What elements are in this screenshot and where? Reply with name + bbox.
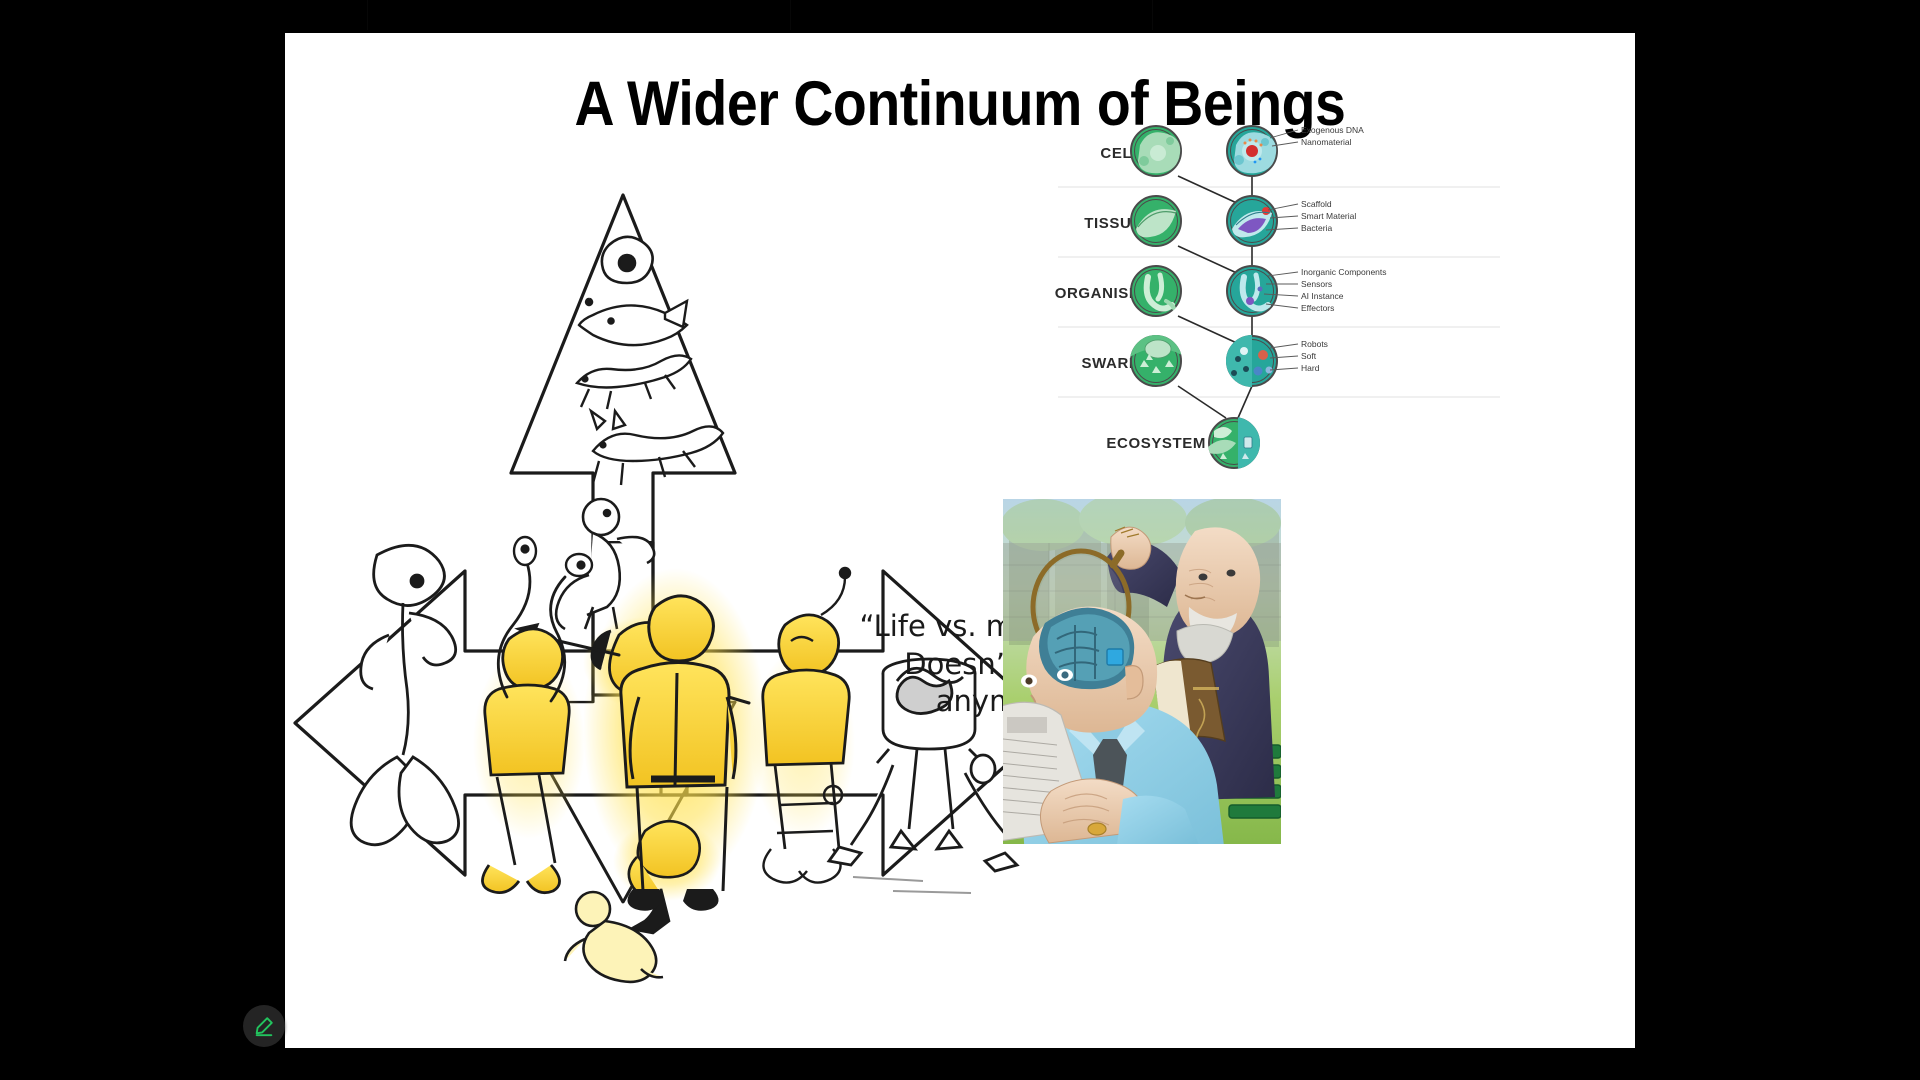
svg-text:Smart Material: Smart Material — [1301, 211, 1356, 221]
svg-text:Hard: Hard — [1301, 363, 1320, 373]
cyborg-inspection-artwork — [1003, 499, 1281, 844]
svg-text:Robots: Robots — [1301, 339, 1328, 349]
svg-text:ORGANISM: ORGANISM — [1055, 285, 1142, 302]
svg-text:Exogenous DNA: Exogenous DNA — [1301, 125, 1364, 135]
pencil-icon — [253, 1015, 275, 1037]
backdrop-seam — [1152, 0, 1153, 30]
svg-text:Effectors: Effectors — [1301, 303, 1334, 313]
pen-annotation-button[interactable] — [243, 1005, 285, 1047]
svg-text:Bacteria: Bacteria — [1301, 223, 1332, 233]
svg-text:Inorganic Components: Inorganic Components — [1301, 267, 1387, 277]
levels-of-organization-diagram: CELL — [1030, 118, 1560, 488]
continuum-of-beings-illustration — [293, 183, 1053, 993]
svg-text:Sensors: Sensors — [1301, 279, 1332, 289]
svg-text:Soft: Soft — [1301, 351, 1317, 361]
screen-root: A Wider Continuum of Beings — [0, 0, 1920, 1080]
svg-text:AI Instance: AI Instance — [1301, 291, 1344, 301]
svg-text:ECOSYSTEM: ECOSYSTEM — [1106, 435, 1206, 452]
svg-text:Scaffold: Scaffold — [1301, 199, 1332, 209]
backdrop-seam — [367, 0, 368, 30]
backdrop-seam — [790, 0, 791, 30]
svg-text:Nanomaterial: Nanomaterial — [1301, 137, 1352, 147]
presentation-slide[interactable]: A Wider Continuum of Beings — [285, 33, 1635, 1048]
